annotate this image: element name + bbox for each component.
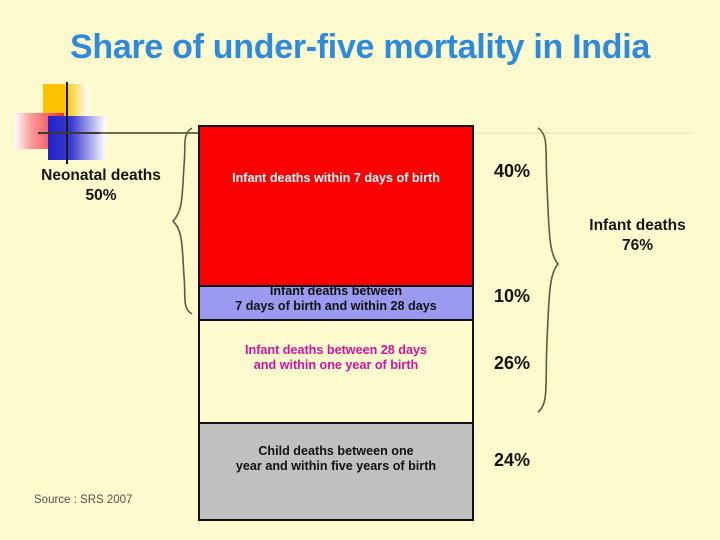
- segment-early-neonatal-label: Infant deaths within 7 days of birth: [232, 171, 440, 186]
- segment-early-neonatal: Infant deaths within 7 days of birth: [200, 127, 472, 285]
- segment-late-neonatal: Infant deaths between 7 days of birth an…: [200, 285, 472, 321]
- infant-deaths-annotation: Infant deaths 76%: [560, 216, 715, 256]
- segment-child-deaths-line2: year and within five years of birth: [236, 459, 436, 473]
- infant-deaths-brace-icon: [532, 126, 560, 414]
- neonatal-deaths-annotation: Neonatal deaths 50%: [6, 166, 196, 206]
- infant-deaths-label: Infant deaths: [560, 216, 715, 236]
- segment-post-neonatal-line2: and within one year of birth: [254, 358, 418, 372]
- logo-blue-square: [48, 116, 106, 160]
- segment-child-deaths: Child deaths between one year and within…: [200, 422, 472, 519]
- value-label-child-deaths: 24%: [494, 450, 530, 471]
- segment-late-neonatal-label: Infant deaths between 7 days of birth an…: [235, 284, 437, 315]
- connector-line-right: [474, 132, 694, 134]
- segment-post-neonatal-label: Infant deaths between 28 days and within…: [245, 343, 427, 374]
- source-note: Source : SRS 2007: [34, 494, 132, 506]
- neonatal-deaths-value: 50%: [6, 186, 196, 206]
- value-label-early-neonatal: 40%: [494, 161, 530, 182]
- segment-child-deaths-label: Child deaths between one year and within…: [236, 444, 436, 475]
- slide-canvas: Share of under-five mortality in India N…: [0, 0, 720, 540]
- neonatal-deaths-label: Neonatal deaths: [6, 166, 196, 186]
- value-label-post-neonatal: 26%: [494, 353, 530, 374]
- segment-post-neonatal: Infant deaths between 28 days and within…: [200, 321, 472, 422]
- page-title: Share of under-five mortality in India: [0, 28, 720, 67]
- segment-post-neonatal-line1: Infant deaths between 28 days: [245, 343, 427, 357]
- logo-vertical-line: [66, 82, 68, 164]
- segment-child-deaths-line1: Child deaths between one: [258, 444, 413, 458]
- value-label-late-neonatal: 10%: [494, 286, 530, 307]
- stacked-bar-chart: Infant deaths within 7 days of birth Inf…: [198, 125, 474, 521]
- decorative-logo: [8, 84, 118, 162]
- segment-late-neonatal-line1: Infant deaths between: [270, 284, 402, 298]
- neonatal-brace-icon: [170, 126, 194, 316]
- segment-late-neonatal-line2: 7 days of birth and within 28 days: [235, 299, 437, 313]
- infant-deaths-value: 76%: [560, 236, 715, 256]
